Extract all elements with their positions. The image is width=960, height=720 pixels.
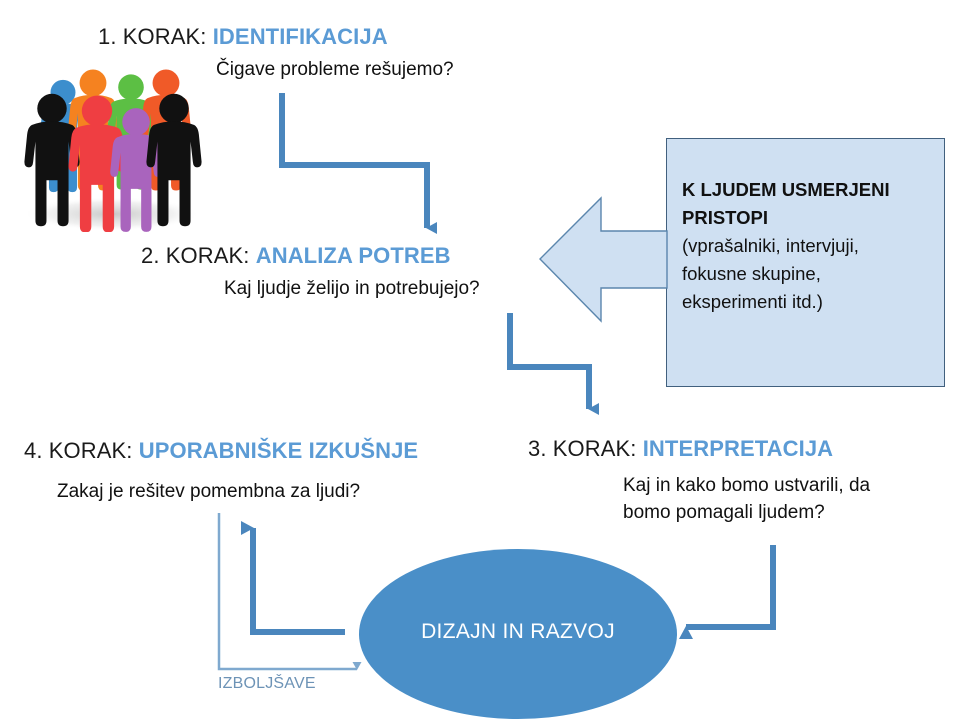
arrow-step2-to-step3 xyxy=(510,313,589,409)
step-4-name: UPORABNIŠKE IZKUŠNJE xyxy=(139,438,418,463)
step-4-heading: 4. KORAK: UPORABNIŠKE IZKUŠNJE xyxy=(24,438,418,464)
diagram-canvas: 1. KORAK: IDENTIFIKACIJA Čigave probleme… xyxy=(0,0,960,720)
step-1-name: IDENTIFIKACIJA xyxy=(213,24,388,49)
step-1-prefix: 1. KORAK: xyxy=(98,24,207,49)
step-4-prefix: 4. KORAK: xyxy=(24,438,133,463)
approaches-body-line-3: eksperimenti itd.) xyxy=(682,288,932,316)
step-2-name: ANALIZA POTREB xyxy=(256,243,451,268)
ellipse-label: DIZAJN IN RAZVOJ xyxy=(421,620,615,644)
approaches-heading-line-1: K LJUDEM USMERJENI xyxy=(682,176,932,204)
arrow-step1-to-step2 xyxy=(282,93,427,228)
approaches-block-arrow-icon xyxy=(540,198,667,321)
step-2-question: Kaj ljudje želijo in potrebujejo? xyxy=(224,276,480,301)
design-and-development-ellipse: DIZAJN IN RAZVOJ xyxy=(359,549,677,719)
approaches-body-line-2: fokusne skupine, xyxy=(682,260,932,288)
approaches-heading-line-2: PRISTOPI xyxy=(682,204,932,232)
step-3-heading: 3. KORAK: INTERPRETACIJA xyxy=(528,436,833,462)
step-1-question: Čigave probleme rešujemo? xyxy=(216,57,454,82)
group-of-people-icon xyxy=(14,42,210,232)
approaches-box-text: K LJUDEM USMERJENI PRISTOPI (vprašalniki… xyxy=(682,176,932,317)
step-4-question: Zakaj je rešitev pomembna za ljudi? xyxy=(57,479,360,504)
approaches-body-line-1: (vprašalniki, intervjuji, xyxy=(682,232,932,260)
arrow-ellipse-to-step4 xyxy=(253,528,345,632)
step-3-name: INTERPRETACIJA xyxy=(643,436,833,461)
arrow-step3-to-ellipse xyxy=(686,545,773,627)
step-2-prefix: 2. KORAK: xyxy=(141,243,250,268)
step-3-question-line-2: bomo pomagali ljudem? xyxy=(623,500,825,525)
arrow-improvements-to-ellipse xyxy=(219,513,357,669)
step-3-prefix: 3. KORAK: xyxy=(528,436,637,461)
step-3-question-line-1: Kaj in kako bomo ustvarili, da xyxy=(623,473,870,498)
improvements-label: IZBOLJŠAVE xyxy=(218,675,316,693)
step-2-heading: 2. KORAK: ANALIZA POTREB xyxy=(141,243,451,269)
step-1-heading: 1. KORAK: IDENTIFIKACIJA xyxy=(98,24,388,50)
